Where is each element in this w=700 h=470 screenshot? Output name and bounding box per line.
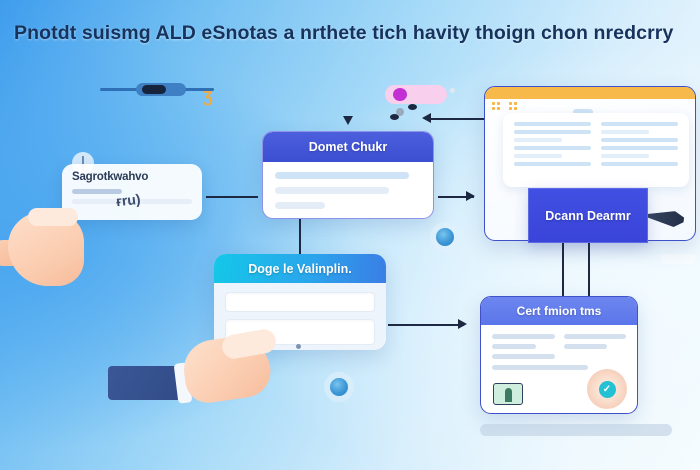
validator-card-body — [263, 162, 433, 219]
id-photo-icon — [493, 383, 523, 405]
certificate-shadow — [480, 424, 672, 436]
content-line — [275, 187, 389, 194]
window-title-bar — [485, 87, 695, 99]
cursor-pointer-icon — [343, 116, 353, 125]
validator-card-title: Domet Chukr — [263, 132, 433, 162]
connector-banner-to-certificate — [562, 243, 564, 296]
blue-marker-icon — [330, 378, 348, 396]
certificate-card[interactable]: Cert fmion tms ✓ — [480, 296, 638, 414]
arrowhead-right-icon — [466, 191, 475, 201]
small-dot-icon — [450, 88, 455, 93]
connector-window-to-banner — [428, 118, 484, 120]
pink-highlight-blob — [385, 85, 447, 104]
hand-suit-right — [118, 336, 296, 422]
seal-check-glyph: ✓ — [599, 381, 616, 398]
document-sheet — [503, 113, 689, 187]
slider-knob[interactable] — [142, 85, 166, 94]
verified-seal-icon: ✓ — [587, 369, 627, 409]
page-title: Pnotdt suismg ALD eSnotas a nrthete tich… — [14, 22, 690, 45]
pebble-dark-icon — [408, 104, 417, 110]
hand-knuckle — [28, 208, 78, 226]
content-line — [275, 202, 325, 209]
connector-upload-to-certificate — [388, 324, 464, 326]
content-line — [275, 172, 409, 179]
hand-fist-left — [0, 196, 94, 288]
range-slider[interactable] — [100, 88, 214, 91]
validator-card[interactable]: Domet Chukr — [262, 131, 434, 219]
note-scribble: ғru) — [115, 191, 141, 209]
certificate-card-body — [481, 325, 637, 370]
blue-marker-icon — [436, 228, 454, 246]
pebble-grey-icon — [396, 108, 404, 116]
orange-glyph-icon: Ʒ — [203, 89, 213, 107]
connector-banner-to-certificate — [588, 243, 590, 296]
dot-grid-icon[interactable] — [492, 102, 517, 110]
upload-card-title: Doge le Valinplin. — [214, 254, 386, 283]
upload-input-field[interactable] — [225, 292, 375, 312]
arrowhead-left-icon — [422, 113, 431, 123]
connector-validator-to-upload — [299, 219, 301, 255]
upload-card-handle — [296, 344, 301, 349]
arrowhead-right-icon — [458, 319, 467, 329]
note-card-title: Sagrotkwahvo — [72, 171, 192, 183]
connector-note-to-validator — [206, 196, 258, 198]
certificate-card-title: Cert fmion tms — [481, 297, 637, 325]
ghost-pill — [660, 254, 696, 264]
scan-banner[interactable]: Dcann Dearmr — [528, 188, 648, 243]
